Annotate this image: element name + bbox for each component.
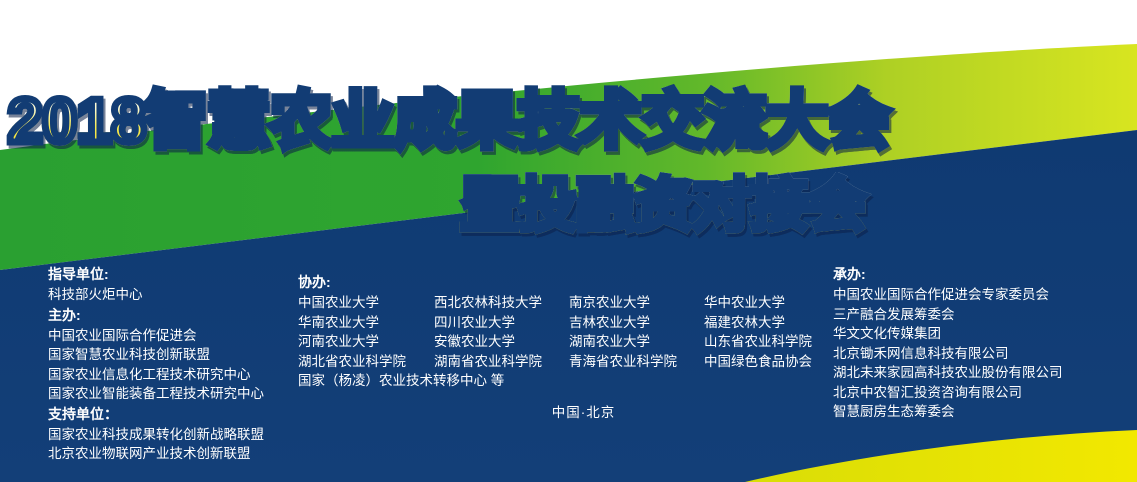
guidance-heading: 指导单位: <box>48 264 264 285</box>
organizer-item: 北京中农智汇投资咨询有限公司 <box>833 383 1063 403</box>
coorganizer-item: 南京农业大学 <box>569 293 704 313</box>
organizer-item: 中国农业国际合作促进会专家委员会 <box>833 285 1063 305</box>
coorganizer-item: 中国绿色食品协会 <box>704 352 812 372</box>
organizer-heading: 承办: <box>833 264 1063 285</box>
column-left: 指导单位: 科技部火炬中心 主办: 中国农业国际合作促进会 国家智慧农业科技创新… <box>48 264 264 464</box>
host-item: 国家智慧农业科技创新联盟 <box>48 345 264 365</box>
organizer-item: 三产融合发展筹委会 <box>833 305 1063 325</box>
coorganizer-item: 安徽农业大学 <box>434 332 569 352</box>
coorganizer-row: 中国农业大学西北农林科技大学南京农业大学华中农业大学 <box>298 293 812 313</box>
host-item: 中国农业国际合作促进会 <box>48 326 264 346</box>
coorganizer-item: 福建农林大学 <box>704 313 785 333</box>
coorganizer-row: 华南农业大学四川农业大学吉林农业大学福建农林大学 <box>298 313 812 333</box>
coorganizer-heading: 协办: <box>298 272 812 293</box>
host-item: 国家农业智能装备工程技术研究中心 <box>48 384 264 404</box>
coorganizer-item: 中国农业大学 <box>298 293 434 313</box>
organizer-item: 华文文化传媒集团 <box>833 324 1063 344</box>
host-heading: 主办: <box>48 305 264 326</box>
coorganizer-item: 西北农林科技大学 <box>434 293 569 313</box>
support-item: 国家农业科技成果转化创新战略联盟 <box>48 425 264 445</box>
coorganizer-item: 河南农业大学 <box>298 332 434 352</box>
coorganizer-item: 湖南农业大学 <box>569 332 704 352</box>
coorganizer-item: 华南农业大学 <box>298 313 434 333</box>
venue-text: 中国·北京 <box>0 404 1137 422</box>
coorganizer-item: 青海省农业科学院 <box>569 352 704 372</box>
column-right: 承办: 中国农业国际合作促进会专家委员会 三产融合发展筹委会 华文文化传媒集团 … <box>833 264 1063 422</box>
guidance-item: 科技部火炬中心 <box>48 285 264 305</box>
support-item: 北京农业物联网产业技术创新联盟 <box>48 444 264 464</box>
coorganizer-item: 山东省农业科学院 <box>704 332 812 352</box>
organizer-item: 湖北未来家园高科技农业股份有限公司 <box>833 363 1063 383</box>
coorganizer-item: 湖北省农业科学院 <box>298 352 434 372</box>
column-middle: 协办: 中国农业大学西北农林科技大学南京农业大学华中农业大学 华南农业大学四川农… <box>298 272 812 391</box>
coorganizer-item: 湖南省农业科学院 <box>434 352 569 372</box>
coorganizer-item: 吉林农业大学 <box>569 313 704 333</box>
organizer-item: 北京锄禾网信息科技有限公司 <box>833 344 1063 364</box>
coorganizer-row: 河南农业大学安徽农业大学湖南农业大学山东省农业科学院 <box>298 332 812 352</box>
coorganizer-last-line: 国家（杨凌）农业技术转移中心 等 <box>298 371 812 391</box>
host-item: 国家农业信息化工程技术研究中心 <box>48 365 264 385</box>
conference-poster: 2018智慧农业成果技术交流大会 暨投融资对接会 指导单位: 科技部火炬中心 主… <box>0 0 1137 482</box>
coorganizer-row: 湖北省农业科学院湖南省农业科学院青海省农业科学院中国绿色食品协会 <box>298 352 812 372</box>
coorganizer-item: 华中农业大学 <box>704 293 785 313</box>
coorganizer-item: 四川农业大学 <box>434 313 569 333</box>
